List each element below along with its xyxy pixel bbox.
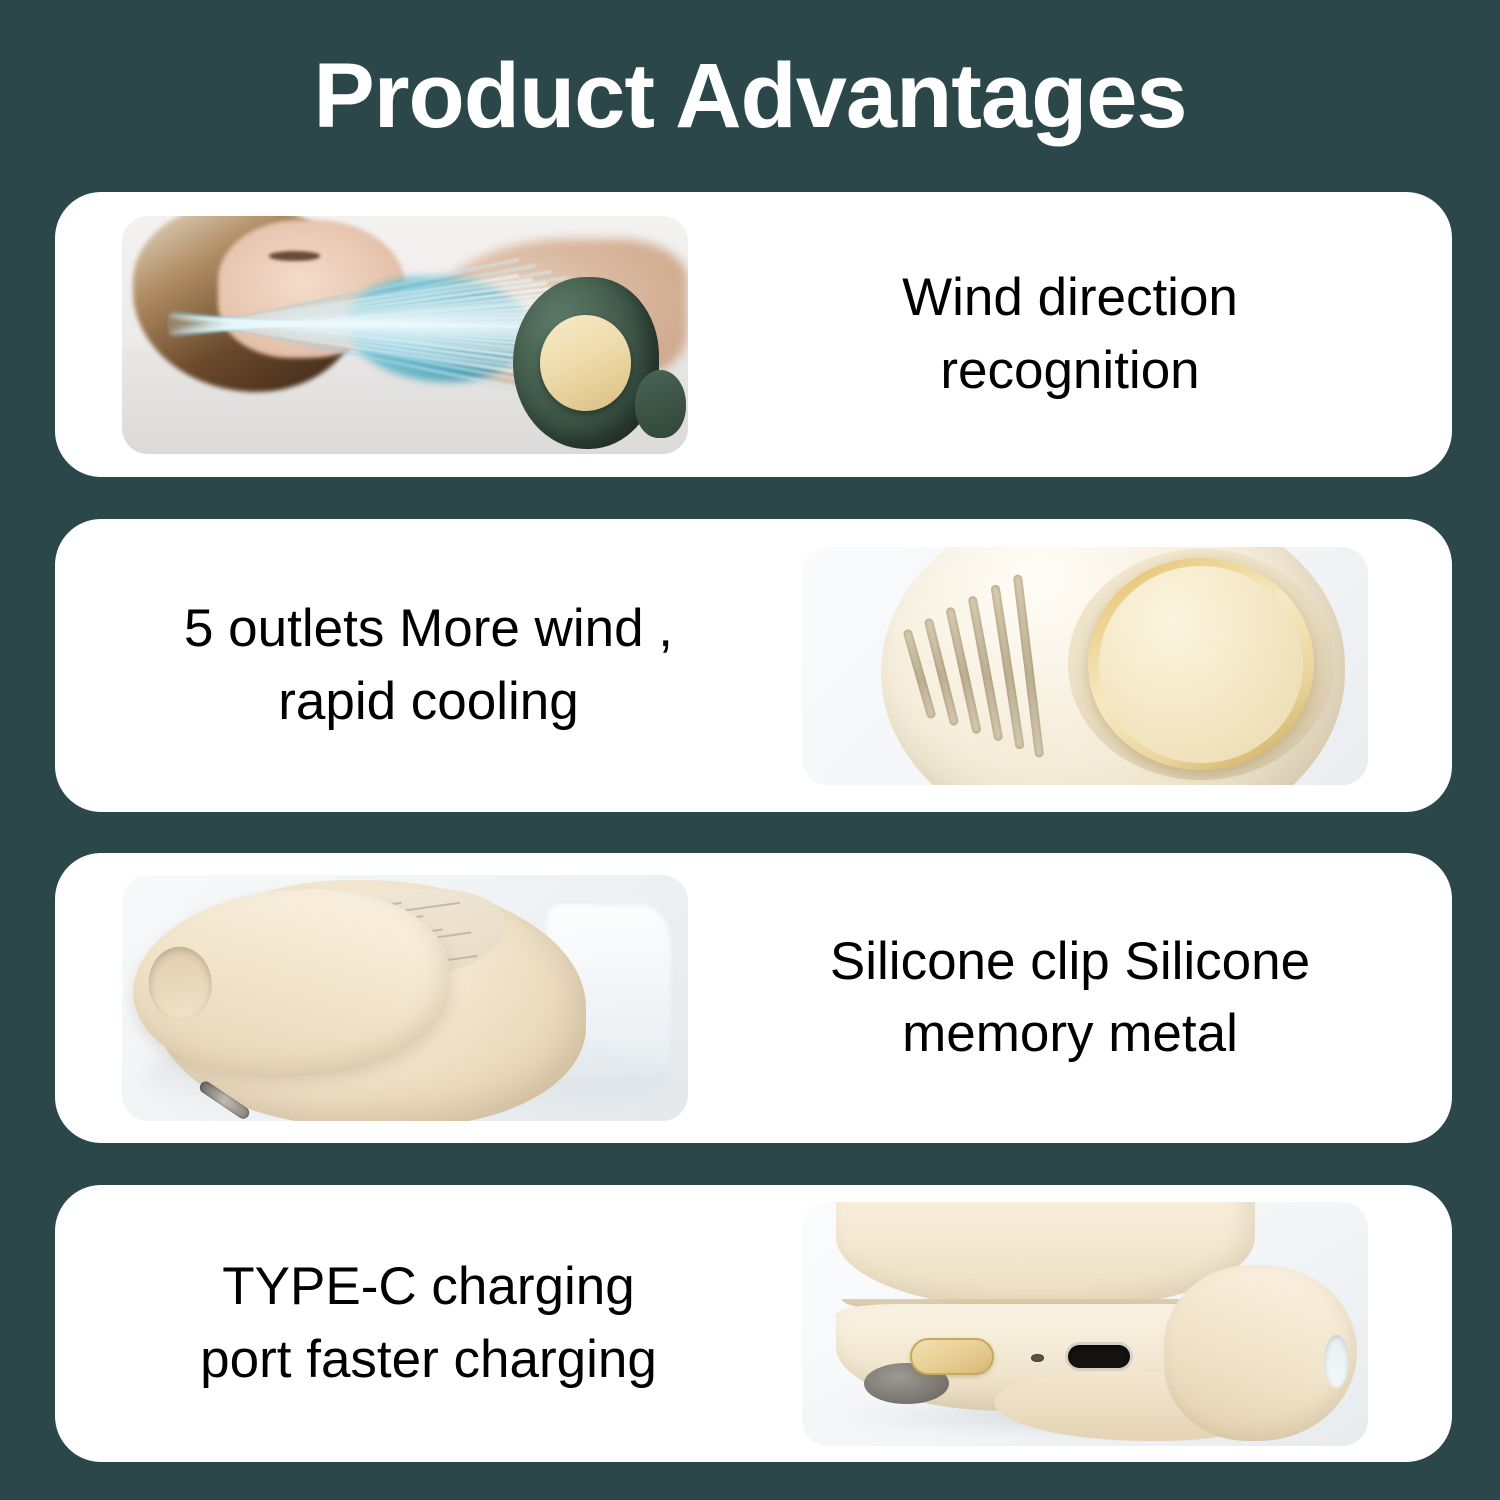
green-neck-fan (513, 277, 683, 448)
clip-inner-curve (146, 944, 214, 1023)
fan-gold-disc (540, 315, 632, 411)
advantage-line-1: 5 outlets More wind , (184, 599, 673, 658)
advantage-line-1: Silicone clip Silicone (830, 932, 1310, 991)
cap-face (1099, 566, 1303, 764)
product-image-fan-base-with-usb-c-port-and-button (802, 1202, 1368, 1446)
product-image-woman-sleeping-with-airflow-and-green-neck-fan (122, 216, 688, 454)
advantage-card-silicone-clip-memory-metal: Silicone clip Silicone memory metal (55, 853, 1452, 1143)
product-image-silicone-clip-back-view (122, 875, 688, 1121)
gold-power-button (910, 1338, 995, 1375)
page-title: Product Advantages (0, 44, 1500, 148)
silicone-ear-hook (1164, 1265, 1356, 1441)
advantage-text-type-c-charging: TYPE-C charging port faster charging (55, 1251, 802, 1395)
advantage-text-silicone-clip-memory-metal: Silicone clip Silicone memory metal (688, 926, 1452, 1070)
ear-hook-opening (1324, 1335, 1349, 1388)
advantage-card-wind-direction-recognition: Wind direction recognition (55, 192, 1452, 477)
advantage-line-2: recognition (708, 335, 1432, 407)
advantage-card-type-c-charging: TYPE-C charging port faster charging (55, 1185, 1452, 1462)
led-indicator-pinhole (1031, 1354, 1043, 1362)
advantage-line-1: TYPE-C charging (222, 1257, 634, 1316)
infographic-page: Product Advantages Wind direction recogn… (0, 0, 1500, 1500)
advantage-line-1: Wind direction (902, 268, 1238, 327)
advantage-line-2: rapid cooling (75, 666, 782, 738)
air-outlet-slots (910, 566, 1057, 766)
fan-ear-hook (635, 370, 686, 439)
advantage-text-wind-direction-recognition: Wind direction recognition (688, 262, 1452, 406)
advantage-line-2: port faster charging (75, 1324, 782, 1396)
product-image-fan-outlets-and-gold-cap-closeup (802, 547, 1368, 785)
advantage-line-2: memory metal (708, 998, 1432, 1070)
usb-c-charging-port (1065, 1342, 1133, 1371)
advantage-text-five-outlets-rapid-cooling: 5 outlets More wind , rapid cooling (55, 593, 802, 737)
advantage-card-five-outlets-rapid-cooling: 5 outlets More wind , rapid cooling (55, 519, 1452, 812)
